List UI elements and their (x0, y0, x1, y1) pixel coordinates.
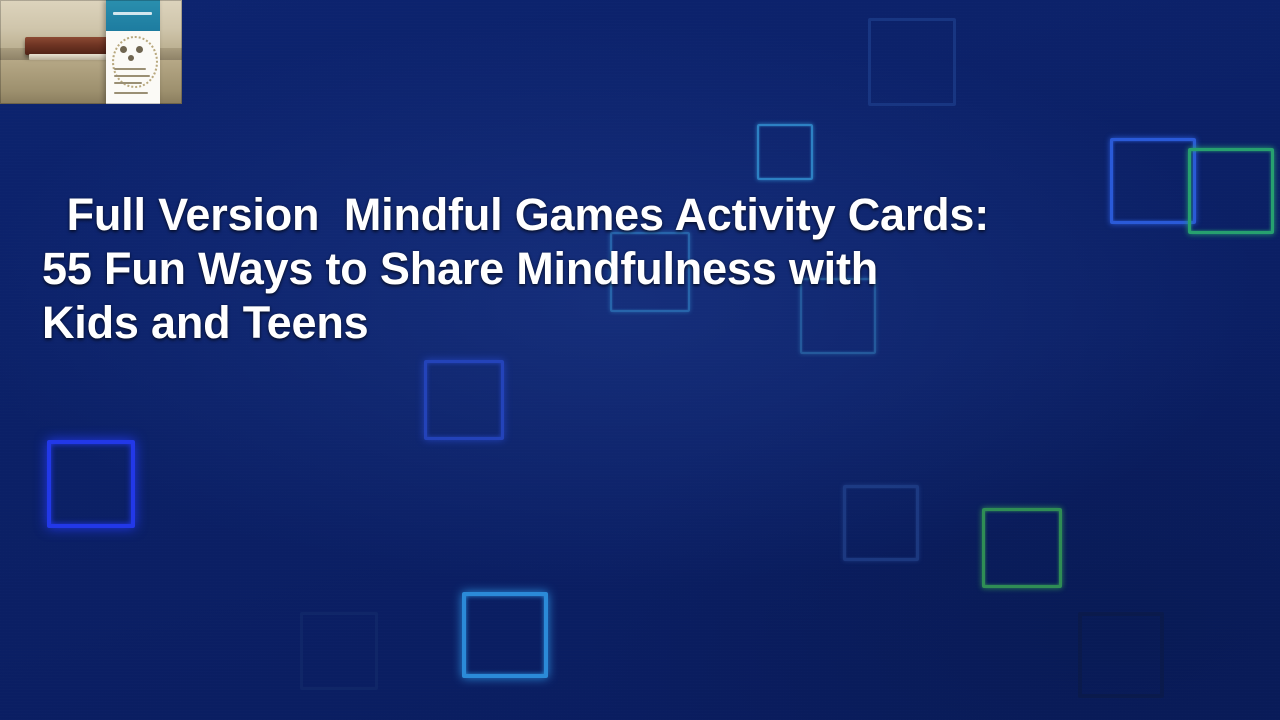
square-blue-center (424, 360, 504, 440)
square-faint-lower-mid (843, 485, 919, 561)
square-dark-bottom-right (1078, 612, 1164, 698)
square-cyan-upper-mid (757, 124, 813, 180)
square-blue-left (47, 440, 135, 528)
square-green-lower (982, 508, 1062, 588)
product-photo-thumbnail (0, 0, 182, 104)
headline-text: Full Version Mindful Games Activity Card… (42, 188, 1082, 350)
square-top-right-faint (868, 18, 956, 106)
square-faint-lower-left (300, 612, 378, 690)
photo-border (0, 0, 182, 104)
thumbnail-canvas: Full Version Mindful Games Activity Card… (0, 0, 1280, 720)
square-cyan-bottom (462, 592, 548, 678)
square-blue-right (1110, 138, 1196, 224)
square-green-right (1188, 148, 1274, 234)
